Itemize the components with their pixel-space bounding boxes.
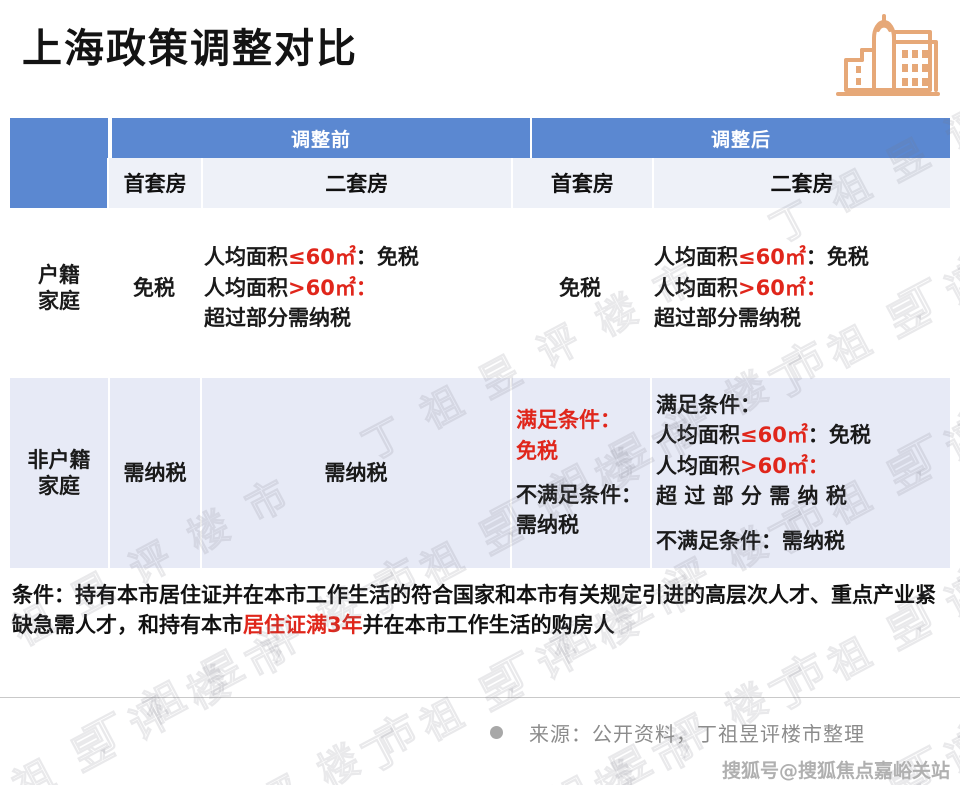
table-row-hukou-family: 户籍 家庭 免税 人均面积≤60㎡：免税 人均面积>60㎡： 超过部分需纳税 免… [10,208,950,368]
cell-line-1: 人均面积≤60㎡：免税 [654,242,869,272]
text-segment: ：免税 [356,245,419,269]
text-segment: 人均面积 [654,245,738,269]
text-segment-red: ≤60㎡ [740,423,808,447]
group-header-after: 调整后 [532,118,950,158]
cell-line-2: 人均面积>60㎡： [656,451,829,481]
cell-line-3: 超 过 部 分 需 纳 税 [656,481,847,511]
cell-after-first-hukou: 免税 [510,208,650,368]
footnote-part2: 并在本市工作生活的购房人 [363,613,615,637]
row-label-line1: 户籍 [38,262,80,288]
group-header-before: 调整前 [112,118,530,158]
cell-text: 需纳税 [325,458,388,488]
source-text: 来源：公开资料，丁祖昱评楼市整理 [529,718,865,747]
cell-line-condition-met: 满足条件： [516,405,621,435]
header-corner-cell [10,118,108,158]
city-buildings-icon [832,8,942,102]
cell-before-second-non-hukou: 需纳税 [200,378,510,568]
row-label-hukou-family: 户籍 家庭 [10,208,108,368]
cell-line-condition-met-value: 免税 [516,436,558,466]
cell-before-first-hukou: 免税 [108,208,200,368]
cell-text: 需纳税 [124,458,187,488]
table-header-groups: 调整前 调整后 [10,118,950,158]
text-segment-red: >60㎡： [740,454,829,478]
table-row-non-hukou-family: 非户籍 家庭 需纳税 需纳税 满足条件： 免税 不满足条件： 需纳税 满足条件：… [10,378,950,568]
sohu-watermark: 搜狐号@搜狐焦点嘉峪关站 [722,756,950,783]
text-segment: 人均面积 [204,245,288,269]
text-segment: 人均面积 [204,276,288,300]
text-segment: 人均面积 [656,454,740,478]
text-segment: ：免税 [806,245,869,269]
column-header-before-second: 二套房 [201,158,511,208]
cell-line-condition-unmet-value: 需纳税 [516,510,579,540]
text-segment: ：免税 [808,423,871,447]
column-header-before-first: 首套房 [107,158,200,208]
cell-after-second-hukou: 人均面积≤60㎡：免税 人均面积>60㎡： 超过部分需纳税 [650,208,948,368]
footer-divider [0,697,960,698]
column-header-after-first: 首套房 [511,158,652,208]
row-label-line1: 非户籍 [28,447,91,473]
row-label-line2: 家庭 [38,288,80,314]
subheader-corner-cell [10,158,107,208]
table-header-columns: 首套房 二套房 首套房 二套房 [10,158,950,208]
cell-before-first-non-hukou: 需纳税 [108,378,200,568]
cell-line-0: 满足条件： [656,390,761,420]
cell-line-2: 人均面积>60㎡： [654,273,827,303]
cell-before-second-hukou: 人均面积≤60㎡：免税 人均面积>60㎡： 超过部分需纳税 [200,208,510,368]
cell-line-2: 人均面积>60㎡： [204,273,377,303]
cell-line-3: 超过部分需纳税 [654,303,801,333]
policy-comparison-table: 调整前 调整后 首套房 二套房 首套房 二套房 户籍 家庭 免税 人均面积≤60… [10,118,950,568]
row-label-non-hukou-family: 非户籍 家庭 [10,378,108,568]
cell-text: 免税 [133,273,175,303]
footnote-condition: 条件：持有本市居住证并在本市工作生活的符合国家和本市有关规定引进的高层次人才、重… [12,580,948,641]
cell-line-4: 不满足条件：需纳税 [656,526,845,556]
text-segment: 人均面积 [654,276,738,300]
text-segment-red: >60㎡： [288,276,377,300]
page-title: 上海政策调整对比 [22,16,358,74]
text-segment-red: ≤60㎡ [738,245,806,269]
cell-after-first-non-hukou: 满足条件： 免税 不满足条件： 需纳税 [510,378,650,568]
bullet-dot-icon [490,726,503,739]
text-segment-red: >60㎡： [738,276,827,300]
cell-after-second-non-hukou: 满足条件： 人均面积≤60㎡：免税 人均面积>60㎡： 超 过 部 分 需 纳 … [650,378,948,568]
text-segment-red: ≤60㎡ [288,245,356,269]
cell-line-1: 人均面积≤60㎡：免税 [204,242,419,272]
cell-text: 免税 [559,273,601,303]
cell-line-3: 超过部分需纳税 [204,303,351,333]
row-label-line2: 家庭 [38,473,80,499]
cell-line-1: 人均面积≤60㎡：免税 [656,420,871,450]
text-segment: 人均面积 [656,423,740,447]
column-header-after-second: 二套房 [652,158,950,208]
cell-line-condition-unmet: 不满足条件： [516,480,642,510]
source-line: 来源：公开资料，丁祖昱评楼市整理 [490,718,865,747]
footnote-highlight: 居住证满3年 [243,613,363,637]
